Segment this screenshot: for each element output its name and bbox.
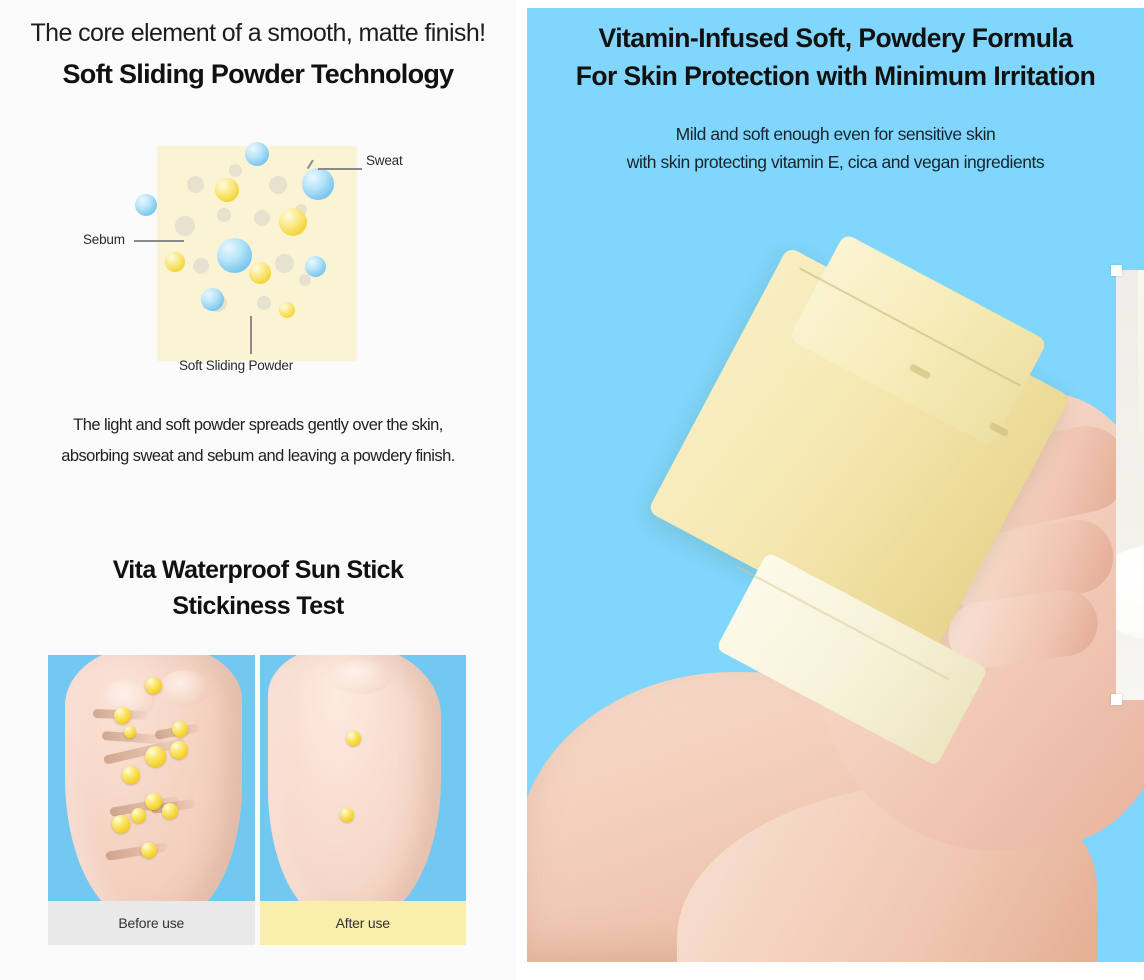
sebum-bead [145, 793, 162, 810]
sebum-particle [279, 208, 307, 236]
sweat-particle [201, 288, 224, 311]
sebum-bead [145, 746, 166, 767]
sebum-bead [114, 707, 131, 724]
foam-cloud [1116, 545, 1144, 640]
sebum-bead [131, 808, 146, 823]
right-panel-title-line-1: Vitamin-Infused Soft, Powdery Formula [527, 20, 1144, 58]
powder-blob-group [157, 146, 357, 361]
sebum-particle [279, 302, 295, 318]
sebum-leader-line [134, 240, 184, 242]
sweat-particle [217, 238, 252, 273]
stickiness-test-title-line-2: Stickiness Test [0, 588, 516, 624]
before-after-comparison: Before use After use [48, 655, 466, 945]
page-title: Soft Sliding Powder Technology [0, 58, 516, 92]
closeup-stick-side [1138, 270, 1144, 459]
powder-dot [175, 216, 195, 236]
after-use-caption: After use [260, 901, 467, 945]
right-panel-subtitle: Mild and soft enough even for sensitive … [527, 120, 1144, 177]
sebum-particle [165, 252, 185, 272]
powder-dot [229, 164, 242, 177]
before-use-caption: Before use [48, 901, 255, 945]
description-line-2: absorbing sweat and sebum and leaving a … [0, 441, 516, 472]
right-panel-title-line-2: For Skin Protection with Minimum Irritat… [527, 58, 1144, 96]
sweat-particle [245, 142, 269, 166]
powder-technology-diagram: Sweat Sebum Soft Sliding Powder [0, 128, 516, 393]
description-line-1: The light and soft powder spreads gently… [0, 410, 516, 441]
powder-dot [257, 296, 271, 310]
powder-dot [299, 274, 311, 286]
sebum-bead [112, 815, 130, 833]
after-use-column: After use [260, 655, 467, 945]
knuckle-highlight [160, 670, 210, 707]
before-use-column: Before use [48, 655, 255, 945]
product-detail-page: The core element of a smooth, matte fini… [0, 0, 1144, 980]
right-panel: Vitamin-Infused Soft, Powdery Formula Fo… [527, 8, 1144, 962]
sweat-particle [135, 194, 157, 216]
knuckle-highlight [330, 660, 392, 694]
sweat-label: Sweat [366, 153, 403, 168]
inset-image-content [1116, 270, 1144, 700]
sebum-bead [340, 808, 354, 822]
powder-dot [269, 176, 287, 194]
right-panel-title: Vitamin-Infused Soft, Powdery Formula Fo… [527, 20, 1144, 95]
sebum-label: Sebum [83, 232, 125, 247]
powder-dot [187, 176, 204, 193]
left-panel: The core element of a smooth, matte fini… [0, 0, 516, 980]
powder-leader-line [250, 316, 252, 354]
right-panel-subtitle-line-1: Mild and soft enough even for sensitive … [527, 120, 1144, 148]
sweat-particle [305, 256, 326, 277]
sebum-bead [141, 842, 157, 858]
powder-label: Soft Sliding Powder [179, 358, 293, 373]
sebum-particle [215, 178, 239, 202]
after-use-photo [260, 655, 467, 901]
left-panel-header: The core element of a smooth, matte fini… [0, 18, 516, 92]
powder-dot [275, 254, 294, 273]
kicker-text: The core element of a smooth, matte fini… [0, 18, 516, 49]
sebum-particle [249, 262, 271, 284]
sebum-bead [170, 741, 188, 759]
powder-dot [217, 208, 231, 222]
stickiness-test-title: Vita Waterproof Sun Stick Stickiness Tes… [0, 552, 516, 625]
powder-dot [193, 258, 209, 274]
sweat-particle [302, 168, 334, 200]
before-use-photo [48, 655, 255, 901]
sebum-bead [122, 766, 140, 784]
sebum-bead [162, 803, 178, 819]
resize-handle-bottom-left[interactable] [1111, 694, 1122, 705]
stickiness-test-title-line-1: Vita Waterproof Sun Stick [0, 552, 516, 588]
description-text: The light and soft powder spreads gently… [0, 410, 516, 471]
resize-handle-top-left[interactable] [1111, 265, 1122, 276]
right-panel-subtitle-line-2: with skin protecting vitamin E, cica and… [527, 148, 1144, 176]
sweat-leader-line [318, 168, 362, 170]
powder-dot [254, 210, 270, 226]
inset-closeup-image[interactable] [1116, 270, 1144, 700]
